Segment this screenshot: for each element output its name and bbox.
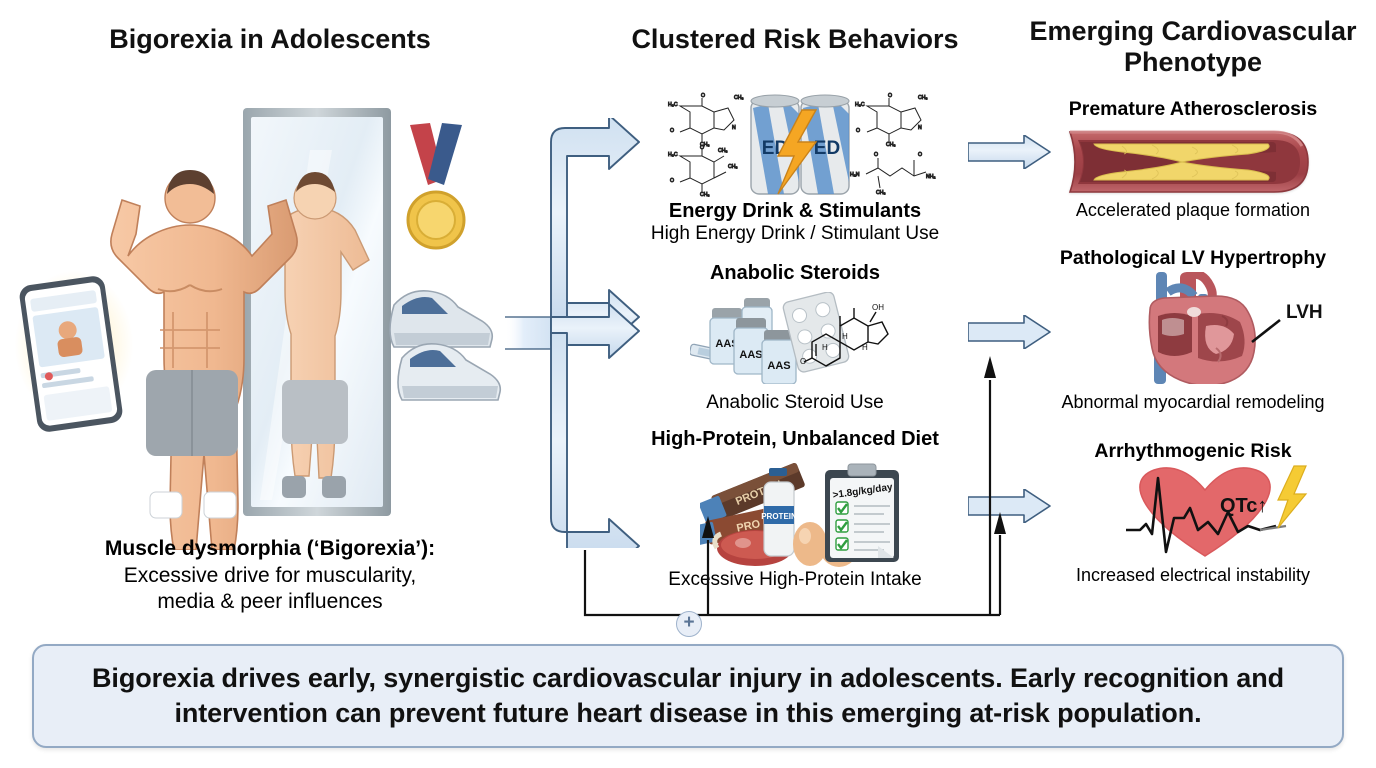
lightning-bolt-icon <box>1278 466 1306 528</box>
svg-text:OH: OH <box>872 303 884 312</box>
svg-text:O: O <box>856 128 860 134</box>
right-item-1-subtext: Accelerated plaque formation <box>1010 200 1376 221</box>
svg-text:CH₃: CH₃ <box>876 190 886 196</box>
arrowhead-up-arrhythmia <box>994 512 1006 534</box>
svg-text:ED: ED <box>814 138 840 159</box>
svg-text:H₃C: H₃C <box>668 152 678 158</box>
svg-text:H₂N: H₂N <box>850 172 860 178</box>
svg-text:CH₃: CH₃ <box>728 164 738 170</box>
summary-banner-text: Bigorexia drives early, synergistic card… <box>34 661 1342 731</box>
plus-node: + <box>676 611 702 637</box>
middle-item-1-subtext: High Energy Drink / Stimulant Use <box>565 223 1025 245</box>
smartphone-icon <box>18 275 124 434</box>
right-item-2-heading-wrap: Pathological LV Hypertrophy <box>1010 247 1376 270</box>
middle-item-1-heading: Energy Drink & Stimulants <box>565 200 1025 223</box>
figure-canvas: Bigorexia in Adolescents Clustered Risk … <box>0 0 1376 768</box>
right-item-3-subtext: Increased electrical instability <box>1010 565 1376 586</box>
middle-item-2-label: Anabolic Steroids <box>565 262 1025 285</box>
qtc-annotation: QTc↑ <box>1220 495 1267 517</box>
taurine-molecule: H₂N O O NH₂ CH₃ <box>850 152 936 196</box>
left-illustration <box>10 80 520 550</box>
svg-text:CH₃: CH₃ <box>734 95 744 101</box>
atom-label: H₃C <box>668 102 678 108</box>
svg-text:CH₃: CH₃ <box>700 192 710 198</box>
energy-drink-illustration: H₃C O CH₃ O CH₃ N H₃C O CH₃ O CH₃ CH₃ ED <box>650 84 950 200</box>
medal-icon <box>408 123 464 248</box>
column-title-left: Bigorexia in Adolescents <box>30 24 510 55</box>
svg-text:CH₃: CH₃ <box>886 142 896 148</box>
arrow-to-atherosclerosis <box>968 135 1052 169</box>
svg-text:N: N <box>918 125 922 131</box>
svg-text:CH₃: CH₃ <box>718 148 728 154</box>
right-item-3-sublabel: Increased electrical instability <box>1010 565 1376 586</box>
right-item-1-heading-wrap: Premature Atherosclerosis <box>1010 98 1376 121</box>
svg-text:N: N <box>732 125 736 131</box>
arrowhead-up-lvh <box>984 356 996 378</box>
lvh-annotation: LVH <box>1286 302 1323 323</box>
column-title-right-line1: Emerging Cardiovascular <box>1029 16 1356 46</box>
column-title-right: Emerging Cardiovascular Phenotype <box>1010 16 1376 78</box>
caffeine-molecule-1: H₃C O CH₃ O CH₃ N <box>668 93 744 148</box>
heart-ecg-illustration: QTc↑ <box>1080 460 1330 564</box>
middle-item-1-label: Energy Drink & Stimulants High Energy Dr… <box>565 200 1025 245</box>
running-shoes-icon <box>390 291 500 400</box>
left-caption-bold: Muscle dysmorphia (‘Bigorexia’): <box>30 536 510 563</box>
svg-text:O: O <box>670 178 674 184</box>
svg-text:O: O <box>670 128 674 134</box>
arrowhead-up-diet <box>702 516 714 538</box>
feedback-connectors <box>575 320 1015 620</box>
column-title-right-line2: Phenotype <box>1124 47 1262 77</box>
left-caption: Muscle dysmorphia (‘Bigorexia’): Excessi… <box>30 536 510 616</box>
middle-item-2-heading: Anabolic Steroids <box>565 262 1025 285</box>
right-item-1-heading: Premature Atherosclerosis <box>1010 98 1376 121</box>
svg-text:H₃C: H₃C <box>855 102 865 108</box>
svg-text:O: O <box>918 152 922 158</box>
right-item-1-sublabel: Accelerated plaque formation <box>1010 200 1376 221</box>
svg-text:NH₂: NH₂ <box>926 174 936 180</box>
caffeine-molecule-2: H₃C O CH₃ O CH₃ CH₃ <box>668 145 738 198</box>
left-caption-line2: Excessive drive for muscularity, <box>30 563 510 590</box>
right-item-2-heading: Pathological LV Hypertrophy <box>1010 247 1376 270</box>
svg-text:O: O <box>874 152 878 158</box>
left-caption-line3: media & peer influences <box>30 589 510 616</box>
summary-banner: Bigorexia drives early, synergistic card… <box>32 644 1344 748</box>
caffeine-molecule-3: H₃C O CH₃ O CH₃ N <box>855 93 928 148</box>
svg-text:CH₃: CH₃ <box>918 95 928 101</box>
heart-cross-section-illustration: LVH <box>1128 272 1328 384</box>
right-item-2-subtext: Abnormal myocardial remodeling <box>1010 392 1376 413</box>
artery-plaque-illustration <box>1062 126 1322 198</box>
right-item-2-sublabel: Abnormal myocardial remodeling <box>1010 392 1376 413</box>
column-title-middle: Clustered Risk Behaviors <box>565 24 1025 55</box>
